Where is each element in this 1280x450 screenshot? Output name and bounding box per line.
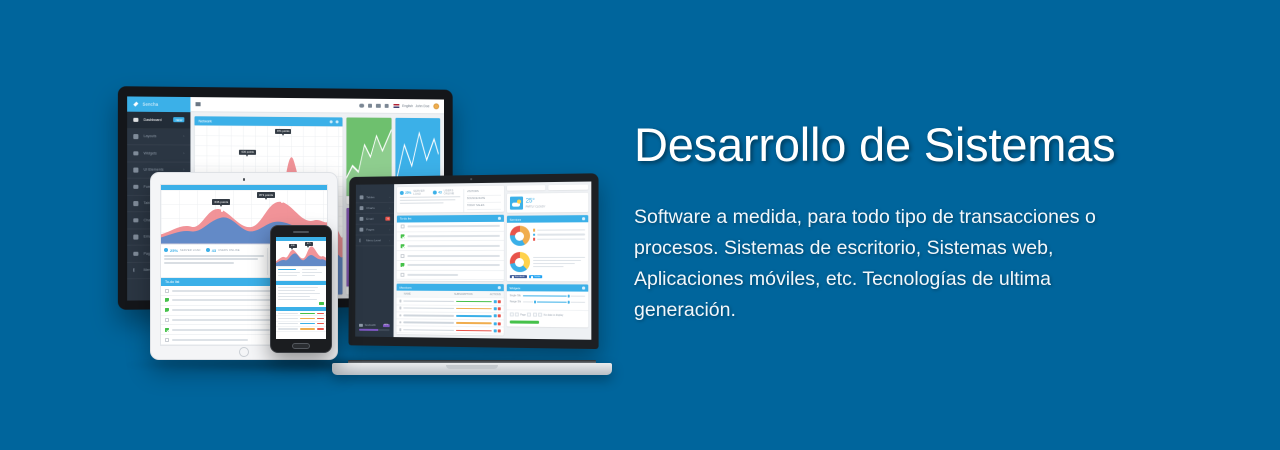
edit-icon[interactable] xyxy=(493,315,496,318)
bandwidth-icon xyxy=(359,323,362,326)
sidebar-label: Email xyxy=(366,217,383,221)
phone-table xyxy=(276,311,326,332)
chevron-right-icon: › xyxy=(389,206,390,209)
row-actions[interactable] xyxy=(493,329,500,332)
tablet-home-button[interactable] xyxy=(239,347,249,357)
stats-body: 25% SERVER LOAD 43 USERS ONLINE xyxy=(397,186,504,213)
table-pager: Page No data to display xyxy=(506,310,588,320)
phone-area-chart: 636 871 xyxy=(276,241,326,267)
laptop-stats-panel: 25% SERVER LOAD 43 USERS ONLINE xyxy=(397,186,504,213)
donut-chart xyxy=(509,252,529,272)
member-name xyxy=(403,307,454,309)
todo-item[interactable] xyxy=(397,280,504,281)
legend-label xyxy=(537,229,585,231)
weather-widget: 25° PARTLY CLOUDY xyxy=(507,193,589,213)
donut-description xyxy=(533,256,586,267)
twitter-pill[interactable]: Twitter xyxy=(529,275,543,278)
sidebar-label: Tables xyxy=(366,195,386,199)
social-pills: Facebook Twitter xyxy=(506,275,588,282)
delete-icon[interactable] xyxy=(498,300,501,303)
sencha-logo-icon xyxy=(133,102,138,107)
row-actions[interactable] xyxy=(493,307,500,310)
member-name xyxy=(403,315,454,317)
grid-icon[interactable] xyxy=(368,103,372,108)
flag-icon xyxy=(394,104,400,108)
hamburger-menu-icon[interactable] xyxy=(196,102,201,106)
next-page-button[interactable] xyxy=(533,313,537,317)
legend-swatch xyxy=(533,238,536,241)
slider-label: Single Slider xyxy=(509,294,520,297)
stat-server-load: 25% SERVER LOAD 43 USERS ONLINE xyxy=(164,248,264,253)
sidebar-item-email[interactable]: Email 4 xyxy=(356,214,394,225)
sidebar-item-dashboard[interactable]: Dashboard NEW xyxy=(127,112,190,129)
phone-screen: 636 871 xyxy=(276,237,326,339)
sidebar-label: Widgets xyxy=(144,151,179,155)
slider-handle[interactable] xyxy=(566,294,571,299)
slider-label: Range Slider xyxy=(509,300,520,303)
weather-cloud-icon xyxy=(510,197,523,210)
row-checkbox[interactable] xyxy=(399,321,402,324)
facebook-pill[interactable]: Facebook xyxy=(509,275,526,278)
todo-checkbox[interactable] xyxy=(401,263,405,267)
member-name xyxy=(403,322,454,324)
phone-stats xyxy=(276,267,326,281)
bandwidth-badge: 62% xyxy=(383,324,390,327)
row-checkbox[interactable] xyxy=(399,307,402,310)
slider-track[interactable] xyxy=(523,301,585,303)
sidebar-item-charts[interactable]: Charts › xyxy=(356,203,394,214)
stat-label: SERVER LOAD xyxy=(180,249,201,252)
bandwidth-widget: Bandwidth 62% xyxy=(359,323,390,331)
pages-icon xyxy=(359,228,363,232)
chart-tooltip: 636 points xyxy=(239,149,255,154)
menu-level-icon xyxy=(133,268,138,272)
todo-checkbox[interactable] xyxy=(401,273,405,277)
todo-text xyxy=(407,264,499,266)
users-online-icon xyxy=(432,190,436,194)
weather-caption: PARTLY CLOUDY xyxy=(526,205,546,208)
member-plan xyxy=(456,315,491,317)
services-panel-title: Services xyxy=(510,217,522,221)
stat-label: USERS ONLINE xyxy=(218,249,240,252)
sidebar-label: Pages xyxy=(366,228,386,232)
todo-checkbox[interactable] xyxy=(401,254,405,258)
chart-tooltip: 871 xyxy=(305,242,313,246)
laptop-widgets-panel: Widgets Single Slider Range S xyxy=(506,284,588,327)
close-icon[interactable] xyxy=(498,287,501,290)
member-plan xyxy=(456,322,491,324)
menu-level-icon xyxy=(359,239,363,242)
todo-item[interactable] xyxy=(397,241,504,251)
todo-list xyxy=(397,222,504,282)
todo-text xyxy=(407,225,499,228)
sidebar-item-layouts[interactable]: Layouts › xyxy=(127,128,190,145)
phone-todo-list xyxy=(276,285,326,307)
server-load-icon xyxy=(164,248,168,252)
sidebar-label: Charts xyxy=(366,206,386,210)
slider-range[interactable]: Range Slider xyxy=(509,300,585,304)
last-page-button[interactable] xyxy=(538,313,542,317)
phone-mockup: 636 871 xyxy=(270,225,332,353)
close-icon[interactable] xyxy=(582,217,585,220)
slider-group: Single Slider Range Slider xyxy=(506,291,588,310)
tablet-camera-icon xyxy=(243,178,246,181)
laptop-camera-icon xyxy=(470,178,472,180)
quick-stat-b[interactable] xyxy=(549,185,589,191)
edit-icon[interactable] xyxy=(493,307,496,310)
layouts-icon xyxy=(133,134,138,139)
chevron-right-icon: › xyxy=(183,135,184,139)
bandwidth-progress xyxy=(359,329,390,331)
member-name xyxy=(403,329,454,331)
legend-label xyxy=(537,238,585,240)
todo-panel-title: To-do list xyxy=(400,217,412,221)
tables-icon xyxy=(360,196,364,200)
close-icon[interactable] xyxy=(498,217,501,220)
laptop-right-column: 25° PARTLY CLOUDY Services xyxy=(506,185,588,337)
brand-name: Sencha xyxy=(143,102,159,107)
twitter-icon xyxy=(531,276,533,278)
chart-tooltip: 636 xyxy=(289,244,297,248)
laptop-sidebar: Tables › Charts › Email 4 xyxy=(355,184,394,337)
laptop-content: 25% SERVER LOAD 43 USERS ONLINE xyxy=(394,182,592,340)
laptop-base xyxy=(332,363,612,375)
todo-text xyxy=(407,245,499,247)
delete-icon[interactable] xyxy=(498,329,501,332)
todo-text xyxy=(407,254,499,256)
column-actions: ACTIONS xyxy=(490,293,501,296)
todo-checkbox[interactable] xyxy=(401,244,405,248)
charts-icon xyxy=(360,206,364,210)
todo-text xyxy=(407,274,458,276)
todo-checkbox[interactable] xyxy=(165,338,169,342)
close-icon[interactable] xyxy=(582,287,585,290)
todo-checkbox[interactable] xyxy=(401,225,405,229)
delete-icon[interactable] xyxy=(498,315,501,318)
brand-logo[interactable]: Sencha xyxy=(127,96,190,112)
sidebar-item-widgets[interactable]: Widgets › xyxy=(127,145,190,162)
laptop-members-panel: Members NAME SUBSCRIPTION ACTIONS xyxy=(396,284,503,336)
laptop-left-column: 25% SERVER LOAD 43 USERS ONLINE xyxy=(396,186,503,336)
laptop-services-panel: Services xyxy=(506,215,588,281)
page-label: Page xyxy=(520,313,526,316)
progress-bar xyxy=(509,321,538,324)
stat-value: 25% xyxy=(170,248,178,253)
edit-icon[interactable] xyxy=(493,300,496,303)
sidebar-item-tables[interactable]: Tables › xyxy=(356,192,394,203)
page-input[interactable] xyxy=(527,313,531,317)
topbar-spacer xyxy=(201,104,356,105)
bandwidth-label: Bandwidth xyxy=(364,324,381,327)
edit-icon[interactable] xyxy=(493,322,496,325)
chart-point xyxy=(281,201,283,203)
sidebar-label: Dashboard xyxy=(144,118,169,122)
avatar[interactable] xyxy=(433,103,439,109)
bell-icon[interactable] xyxy=(376,104,380,109)
stat-label: USERS ONLINE xyxy=(444,189,460,195)
user-name[interactable]: John Doe xyxy=(415,104,429,108)
sidebar-label: Menu Level xyxy=(366,238,386,242)
first-page-button[interactable] xyxy=(509,313,513,317)
member-plan xyxy=(456,329,491,331)
todo-checkbox[interactable] xyxy=(165,328,169,332)
dashboard-icon xyxy=(133,117,138,122)
facebook-icon xyxy=(511,276,513,278)
phone-home-button[interactable] xyxy=(292,343,310,349)
donut-legend xyxy=(533,229,585,243)
page-title: Desarrollo de Sistemas xyxy=(634,118,1194,172)
legend-label xyxy=(537,234,585,236)
row-checkbox[interactable] xyxy=(399,328,402,331)
prev-page-button[interactable] xyxy=(515,313,519,317)
language-selector[interactable]: English xyxy=(402,104,413,108)
close-icon[interactable] xyxy=(336,120,339,123)
row-actions[interactable] xyxy=(493,300,500,303)
hero-banner: Sencha Dashboard NEW Layouts › xyxy=(0,0,1280,450)
email-icon xyxy=(360,217,364,221)
chevron-right-icon: › xyxy=(389,196,390,199)
chart-point xyxy=(221,209,223,211)
users-online-icon xyxy=(206,248,210,252)
charts-icon xyxy=(133,218,138,223)
phone-stats-right xyxy=(302,269,324,278)
todo-item[interactable] xyxy=(397,222,504,232)
slider-track[interactable] xyxy=(523,295,585,297)
panel-controls[interactable] xyxy=(330,120,339,123)
pill-label: Facebook xyxy=(515,276,525,278)
stat-value: 25% xyxy=(405,190,411,194)
members-panel-title: Members xyxy=(400,285,412,289)
member-plan xyxy=(456,308,491,310)
forms-icon xyxy=(133,184,138,189)
slider-single[interactable]: Single Slider xyxy=(509,294,585,298)
todo-text xyxy=(407,235,499,237)
todo-checkbox[interactable] xyxy=(165,298,169,302)
todo-checkbox[interactable] xyxy=(165,289,169,293)
delete-icon[interactable] xyxy=(498,307,501,310)
chart-tooltip: 871 points xyxy=(257,192,275,198)
refresh-icon[interactable] xyxy=(330,120,333,123)
stat-paragraph-line xyxy=(164,262,234,264)
todo-checkbox[interactable] xyxy=(401,234,405,238)
todo-item[interactable] xyxy=(397,231,504,241)
hero-description: Software a medida, para todo tipo de tra… xyxy=(634,202,1114,326)
widgets-icon xyxy=(133,151,138,156)
slider-handle-low[interactable] xyxy=(533,300,538,305)
slider-handle-high[interactable] xyxy=(566,300,571,305)
todo-item[interactable] xyxy=(397,271,504,281)
legend-swatch xyxy=(533,234,536,237)
chart-tooltip: 636 points xyxy=(212,199,230,205)
tables-icon xyxy=(133,201,138,206)
chevron-right-icon: › xyxy=(183,151,184,155)
laptop-mockup: Tables › Charts › Email 4 xyxy=(332,175,612,375)
quick-stat-a[interactable] xyxy=(507,185,546,191)
widgets-panel-title: Widgets xyxy=(509,286,520,290)
stat-paragraph-line xyxy=(164,258,258,260)
server-load-icon xyxy=(399,190,403,194)
device-mockup-group: Sencha Dashboard NEW Layouts › xyxy=(100,70,640,390)
new-badge: NEW xyxy=(174,117,185,122)
pages-icon xyxy=(133,251,138,256)
member-plan xyxy=(456,301,491,303)
chevron-right-icon: › xyxy=(389,228,390,231)
todo-checkbox[interactable] xyxy=(165,318,169,322)
todo-item[interactable] xyxy=(397,251,504,261)
laptop-screen: Tables › Charts › Email 4 xyxy=(355,182,591,340)
phone-speaker-icon xyxy=(293,231,309,233)
row-checkbox[interactable] xyxy=(399,300,402,303)
column-name: NAME xyxy=(404,292,452,295)
row-actions[interactable] xyxy=(493,322,500,325)
row-actions[interactable] xyxy=(493,315,500,318)
todo-item[interactable] xyxy=(397,261,504,271)
edit-icon[interactable] xyxy=(493,329,496,332)
stat-label: SERVER LOAD xyxy=(413,189,428,195)
todo-checkbox[interactable] xyxy=(165,308,169,312)
stat-paragraph-line xyxy=(164,255,264,257)
weather-temperature: 25° xyxy=(526,198,535,204)
bandwidth-row: Bandwidth 62% xyxy=(359,323,390,327)
table-row[interactable] xyxy=(396,334,503,336)
member-name xyxy=(403,300,454,302)
apps-icon[interactable] xyxy=(385,104,389,108)
pill-label: Twitter xyxy=(534,276,541,278)
todo-text xyxy=(172,339,248,341)
delete-icon[interactable] xyxy=(498,322,501,325)
stat-value: 43 xyxy=(212,248,216,253)
stats-left: 25% SERVER LOAD 43 USERS ONLINE xyxy=(164,248,264,276)
table-row[interactable] xyxy=(276,327,326,332)
services-donut-a xyxy=(506,222,588,249)
laptop-todo-panel: To-do list xyxy=(397,215,504,282)
laptop-lid: Tables › Charts › Email 4 xyxy=(348,173,598,349)
stat-value: 43 xyxy=(438,190,441,194)
chart-tooltip: 871 points xyxy=(275,129,291,134)
hero-copy: Desarrollo de Sistemas Software a medida… xyxy=(634,118,1194,326)
email-count-badge: 4 xyxy=(386,217,390,221)
phone-add-button[interactable] xyxy=(319,302,324,305)
sidebar-item-menu-level[interactable]: Menu Level › xyxy=(356,235,394,246)
chevron-right-icon: › xyxy=(389,239,390,242)
donut-chart xyxy=(509,226,529,246)
stat-row: BROKEN LINKS FOUND xyxy=(467,210,501,213)
column-subscription: SUBSCRIPTION xyxy=(454,293,488,296)
todo-text xyxy=(172,329,270,331)
services-donut-b xyxy=(506,249,588,276)
row-checkbox[interactable] xyxy=(399,314,402,317)
ui-elements-icon xyxy=(133,168,138,173)
email-icon xyxy=(133,235,138,240)
search-icon[interactable] xyxy=(360,103,364,108)
network-panel-title: Network xyxy=(199,119,212,123)
sidebar-item-pages[interactable]: Pages › xyxy=(356,225,394,236)
legend-swatch xyxy=(533,229,536,232)
phone-stats-left xyxy=(278,269,300,278)
pager-status: No data to display xyxy=(544,313,564,316)
sidebar-label: Layouts xyxy=(144,134,179,138)
